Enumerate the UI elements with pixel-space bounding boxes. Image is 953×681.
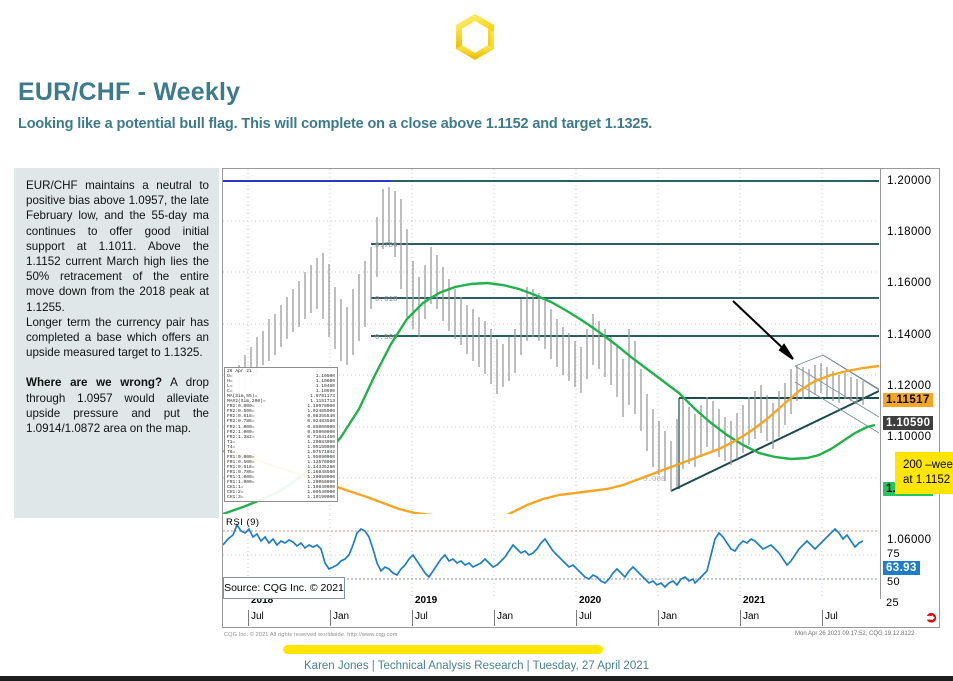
cqg-data-table: 26 Apr 21 O=1.10500 H=1.10600 L=1.10480 … — [224, 367, 338, 502]
page-title: EUR/CHF - Weekly — [18, 78, 240, 107]
price-tick-1-12000: 1.12000 — [887, 380, 931, 392]
price-tick-1-20000: 1.20000 — [887, 175, 931, 187]
month-label-jan-2: Jan — [497, 611, 513, 622]
month-label-jan-4: Jan — [743, 611, 759, 622]
price-tick-1-06000: 1.06000 — [887, 534, 931, 546]
price-tick-1-14000: 1.14000 — [887, 329, 931, 341]
ma-200-week-marker: 1.11517 — [883, 393, 933, 407]
scroll-right-arrow[interactable]: ➲ — [925, 608, 938, 626]
month-label-jul-1: Jul — [251, 611, 264, 622]
cqg-copyright: CQG Inc. © 2021 All rights reserved worl… — [224, 632, 398, 638]
bottom-bar — [0, 676, 953, 681]
commentary-paragraph-1: EUR/CHF maintains a neutral to positive … — [26, 178, 209, 315]
date-axis: 2018 2019 2020 2021 Jul Jan Jul Jan Jul … — [223, 599, 879, 627]
price-tick-1-16000: 1.16000 — [887, 277, 931, 289]
price-plot-area[interactable]: 0.786 0.618 0.500 0.000 — [223, 169, 879, 514]
rsi-tick-50: 50 — [887, 576, 900, 588]
year-label-2020: 2020 — [579, 595, 601, 606]
price-tick-1-10000: 1.10000 — [887, 431, 931, 443]
rsi-tick-25: 25 — [886, 597, 899, 609]
cqg-timestamp: Mon Apr 26 2021 09:17:52, CQG 19.12.8122 — [795, 631, 914, 637]
page-subtitle: Looking like a potential bull flag. This… — [18, 116, 652, 132]
commerzbank-logo — [444, 12, 506, 64]
commentary-risk: Where are we wrong? A drop through 1.095… — [26, 375, 209, 436]
month-label-jul-2: Jul — [415, 611, 428, 622]
callout-line-1: 200 –week ma — [903, 458, 953, 473]
footer-credit: Karen Jones | Technical Analysis Researc… — [0, 660, 953, 672]
month-label-jul-4: Jul — [825, 611, 838, 622]
year-label-2021: 2021 — [743, 595, 765, 606]
commentary-paragraph-2: Longer term the currency pair has comple… — [26, 315, 209, 361]
year-label-2019: 2019 — [415, 595, 437, 606]
price-axis: 1.20000 1.18000 1.16000 1.14000 1.12000 … — [880, 169, 941, 599]
svg-text:0.618: 0.618 — [375, 296, 398, 304]
callout-arrow — [733, 301, 793, 359]
annotation-callout: 200 –week ma at 1.1152 — [895, 452, 953, 494]
rsi-tick-75: 75 — [887, 548, 900, 560]
rsi-current-value: 63.93 — [883, 561, 920, 575]
month-label-jul-3: Jul — [579, 611, 592, 622]
risk-heading: Where are we wrong? — [26, 376, 162, 389]
price-chart[interactable]: 0.786 0.618 0.500 0.000 — [222, 168, 940, 628]
month-label-jan-3: Jan — [661, 611, 677, 622]
month-label-jan-1: Jan — [333, 611, 349, 622]
callout-line-2: at 1.1152 — [903, 473, 953, 488]
rsi-label: RSI (9) — [226, 517, 260, 528]
source-box: Source: CQG Inc. © 2021 — [223, 577, 345, 599]
cqg-row: CH1:3=1.10190000 — [227, 495, 335, 500]
yellow-divider-bar — [283, 645, 603, 654]
commentary-panel: EUR/CHF maintains a neutral to positive … — [14, 168, 219, 518]
last-price-marker: 1.10590 — [883, 416, 933, 430]
price-tick-1-18000: 1.18000 — [887, 226, 931, 238]
